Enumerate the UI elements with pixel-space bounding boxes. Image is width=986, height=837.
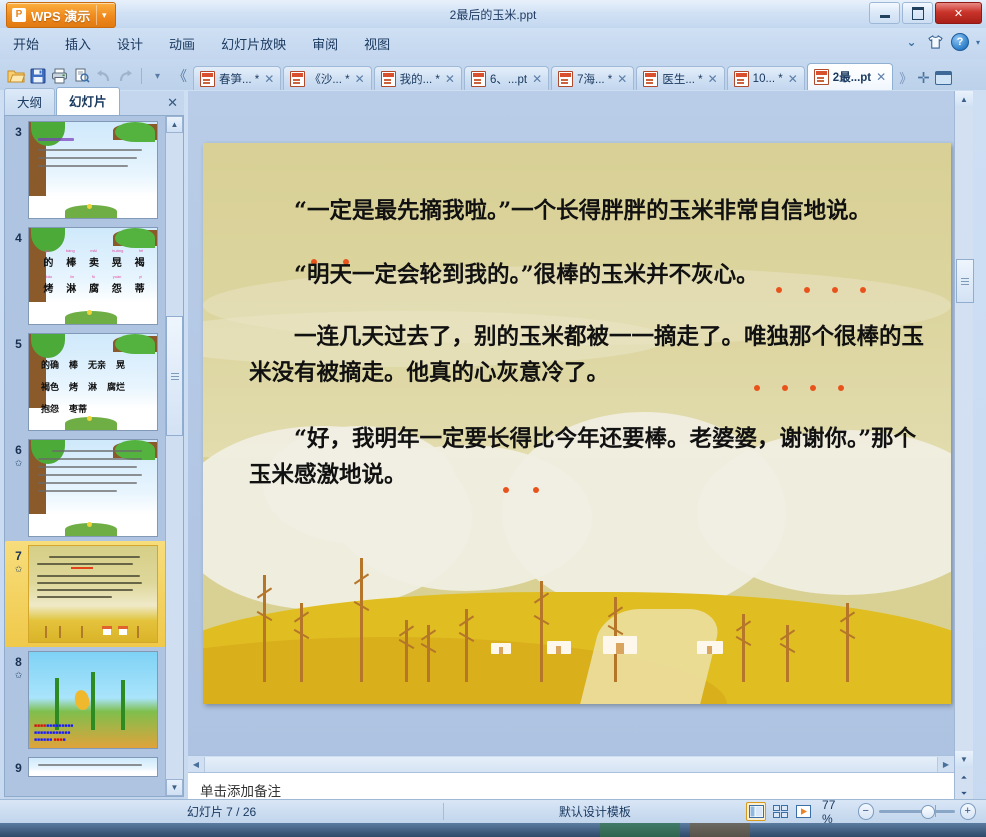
list-item[interactable]: 8 ✩ ■■■■■■■■■■■■■■■■■■■■■■■■■■■■■■■ ■■■■	[5, 647, 166, 753]
emphasis-dot	[754, 385, 760, 391]
doc-tab-label: 7海... *	[577, 71, 612, 87]
house-decor	[103, 629, 111, 635]
menu-item-review[interactable]: 审阅	[299, 30, 351, 57]
collapse-ribbon-icon[interactable]: 《	[170, 66, 190, 86]
doc-tab-label: 我的... *	[400, 71, 440, 87]
slide-thumbnail-current[interactable]	[28, 545, 158, 643]
zoom-in-button[interactable]: +	[960, 803, 977, 820]
menu-item-design[interactable]: 设计	[104, 30, 156, 57]
slide-number-label: 7	[15, 549, 22, 563]
thumbnail-list: 3	[5, 116, 166, 796]
thumbnail-caption: ■■■■■■■■■■■■■■■■■■■■■■■■■■■■■■■ ■■■■	[34, 723, 152, 744]
close-icon[interactable]: ✕	[531, 72, 543, 86]
list-item[interactable]: 3	[5, 117, 166, 223]
tree-decor	[405, 620, 408, 682]
animation-star-icon: ✩	[9, 458, 28, 469]
wps-presentation-window: 2最后的玉米.ppt P WPS 演示 ▾ ✕ 开始 插入 设计 动画 幻灯片放…	[0, 0, 986, 837]
emphasis-dot	[503, 487, 509, 493]
body-line	[37, 563, 133, 565]
thumbnail-text-lines	[38, 764, 151, 772]
thumbnail-text-lines	[38, 450, 151, 498]
horizontal-scroll-track[interactable]	[204, 757, 938, 772]
powerpoint-file-icon	[381, 71, 396, 87]
zoom-slider-knob[interactable]	[921, 805, 935, 819]
character-label: 烤	[43, 280, 53, 295]
scroll-right-icon[interactable]: ▶	[938, 757, 954, 772]
character-label: 怨	[112, 280, 122, 295]
slide-paragraph-3[interactable]: 一连几天过去了，别的玉米都被一一摘走了。唯独那个很棒的玉米没有被摘走。他真的心灰…	[249, 319, 929, 391]
pinyin-label: yuàn	[113, 274, 122, 279]
tree-decor	[137, 626, 139, 638]
print-icon[interactable]	[50, 67, 69, 86]
doc-tab-5[interactable]: 7海... * ✕	[551, 66, 634, 90]
house-decor	[697, 641, 723, 654]
tab-strip-tail: 》 ✛	[895, 68, 958, 90]
window-icon[interactable]	[935, 71, 952, 85]
app-name-label: WPS 演示	[31, 6, 90, 25]
slide-paragraph-2[interactable]: “明天一定会轮到我的。”很棒的玉米并不灰心。	[249, 257, 929, 293]
body-line	[38, 149, 142, 151]
redo-icon[interactable]	[116, 67, 135, 86]
list-item[interactable]: 6 ✩	[5, 435, 166, 541]
house-decor	[119, 629, 127, 635]
body-line	[38, 764, 142, 766]
quick-access-and-tabs-row: ▾ 《 春笋... * ✕ 《沙... * ✕ 我的... * ✕ 6、...p…	[0, 59, 986, 90]
toolbar-divider	[141, 68, 142, 84]
character-label: 褐	[135, 254, 145, 269]
word-row: 褐色 烤 淋 腐烂	[41, 380, 149, 393]
tree-decor	[81, 626, 83, 638]
menu-item-start[interactable]: 开始	[0, 30, 52, 57]
pinyin-label: bàng	[66, 248, 75, 253]
house-decor	[547, 641, 571, 654]
slide-number: 5	[9, 333, 28, 351]
view-and-zoom-controls: 77 % − +	[746, 798, 986, 826]
close-icon[interactable]: ✕	[787, 72, 799, 86]
list-item[interactable]: 9	[5, 753, 166, 781]
doc-tab-6[interactable]: 医生... * ✕	[636, 66, 724, 90]
body-line	[49, 556, 140, 558]
pinyin-label: fǔ	[92, 274, 95, 279]
word-label: 抱怨	[41, 402, 59, 415]
save-icon[interactable]	[28, 67, 47, 86]
body-line	[37, 575, 140, 577]
pinyin-label: guì	[45, 248, 51, 253]
pinyin-label: hè	[139, 248, 143, 253]
emphasis-dot	[533, 487, 539, 493]
maximize-icon	[912, 7, 924, 20]
house-decor	[603, 636, 637, 654]
navigator-tab-strip: 大纲 幻灯片 ✕	[4, 91, 184, 115]
taskbar-item	[690, 823, 750, 837]
list-item[interactable]: 5 的确 棒	[5, 329, 166, 435]
menubar-right-tools: ⌄ ? ▾	[903, 33, 980, 51]
doc-tab-7[interactable]: 10... * ✕	[727, 66, 805, 90]
close-icon[interactable]: ✕	[616, 72, 628, 86]
quick-access-toolbar: ▾ 《	[0, 63, 193, 89]
powerpoint-file-icon	[471, 71, 486, 87]
slide-number: 4	[9, 227, 28, 245]
slide-number-label: 6	[15, 443, 22, 457]
paragraph-text: “好，我明年一定要长得比今年还要棒。老婆婆，谢谢你。”那个玉米感激地说。	[249, 426, 916, 488]
customize-quick-access-icon[interactable]: ▾	[148, 67, 167, 86]
thumbnail-text-lines	[37, 556, 151, 603]
emphasis-dot	[838, 385, 844, 391]
menu-bar: 开始 插入 设计 动画 幻灯片放映 审阅 视图 ⌄ ? ▾	[0, 28, 986, 59]
new-tab-icon[interactable]: ✛	[917, 69, 930, 87]
door-decor	[707, 646, 713, 654]
animation-star-icon: ✩	[9, 670, 28, 681]
tree-decor	[465, 609, 468, 682]
tshirt-icon[interactable]	[927, 34, 944, 51]
tab-outline[interactable]: 大纲	[4, 88, 55, 115]
maximize-button[interactable]	[902, 2, 933, 24]
slide-number-label: 8	[15, 655, 22, 669]
pinyin-label: lín	[70, 274, 74, 279]
doc-tab-label: 10... *	[753, 73, 783, 85]
door-decor	[499, 647, 503, 654]
normal-view-icon[interactable]	[746, 802, 766, 821]
doc-tab-label: 医生... *	[662, 71, 702, 87]
current-slide-canvas[interactable]: “一定是最先摘我啦。”一个长得胖胖的玉米非常自信地说。 “明天一定会轮到我的。”…	[203, 143, 951, 704]
status-bar: 幻灯片 7 / 26 默认设计模板 77 % − +	[0, 799, 986, 823]
slide-paragraph-4[interactable]: “好，我明年一定要长得比今年还要棒。老婆婆，谢谢你。”那个玉米感激地说。	[249, 421, 929, 493]
emphasis-dot	[804, 287, 810, 293]
body-line	[38, 474, 142, 476]
menu-item-view[interactable]: 视图	[351, 30, 403, 57]
powerpoint-file-icon	[290, 71, 305, 87]
grip-lines	[961, 276, 969, 287]
thumbnail-scrollbar[interactable]: ▲ ▼	[165, 116, 183, 796]
tree-decor	[786, 625, 789, 681]
word-label: 无亲	[88, 358, 106, 371]
slide-thumbnail[interactable]: ■■■■■■■■■■■■■■■■■■■■■■■■■■■■■■■ ■■■■	[28, 651, 158, 749]
help-icon[interactable]: ?	[951, 33, 969, 51]
tab-slides[interactable]: 幻灯片	[56, 87, 120, 115]
emphasis-dot	[832, 287, 838, 293]
body-line	[37, 582, 142, 584]
caption-highlight: ■■■	[54, 737, 63, 743]
body-line	[38, 458, 142, 460]
emphasis-dot	[810, 385, 816, 391]
close-icon[interactable]: ✕	[263, 72, 275, 86]
slide-sorter-icon[interactable]	[771, 803, 789, 820]
close-icon[interactable]: ✕	[444, 72, 456, 86]
document-tab-strip: 春笋... * ✕ 《沙... * ✕ 我的... * ✕ 6、...pt ✕ …	[193, 59, 986, 90]
word-label: 烤	[69, 380, 78, 393]
caption-highlight: ■■■■	[34, 723, 46, 729]
close-icon[interactable]: ✕	[707, 72, 719, 86]
word-label: 枣蒂	[69, 402, 87, 415]
notes-placeholder: 单击添加备注	[200, 780, 281, 800]
scroll-up-icon[interactable]: ▲	[166, 116, 183, 133]
pinyin-label: huǎng	[112, 248, 123, 253]
tree-decor	[360, 558, 363, 681]
title-line	[38, 138, 74, 141]
character-label: 腐	[89, 280, 99, 295]
wps-logo-icon: P	[12, 8, 26, 22]
horizontal-scrollbar[interactable]: ◀ ▶	[188, 755, 954, 773]
thumbnail-list-container: 3	[4, 115, 184, 797]
pinyin-label: yì	[139, 274, 142, 279]
more-tabs-icon[interactable]: 》	[899, 68, 912, 87]
tree-decor	[846, 603, 849, 682]
emphasis-dots	[71, 567, 93, 569]
slide-thumbnail[interactable]	[28, 121, 158, 219]
previous-slide-icon[interactable]: ⏶	[956, 770, 972, 786]
list-item-selected[interactable]: 7 ✩	[5, 541, 166, 647]
character-label: 蒂	[135, 280, 145, 295]
slide-thumbnail[interactable]: guì bàng mǎi huǎng hè 的 棒 卖 晃	[28, 227, 158, 325]
body-line	[37, 596, 112, 598]
pinyin-grid: guì bàng mǎi huǎng hè 的 棒 卖 晃	[37, 248, 151, 296]
body-line	[37, 589, 133, 591]
paragraph-text: 一连几天过去了，别的玉米都被一一摘走了。唯独那个很棒的玉米没有被摘走。他真的心灰…	[249, 324, 924, 386]
tree-decor	[540, 581, 543, 682]
leaf-decor	[115, 334, 155, 354]
zoom-out-button[interactable]: −	[858, 803, 875, 820]
word-row: 的确 棒 无亲 晃	[41, 358, 149, 371]
scrollbar-thumb[interactable]	[166, 316, 183, 436]
minimize-button[interactable]	[869, 2, 900, 24]
doc-tab-label: 春笋... *	[219, 71, 259, 87]
design-template-label: 默认设计模板	[444, 803, 746, 820]
tree-decor	[59, 626, 61, 638]
landscape-decor	[29, 620, 157, 642]
doc-tab-1[interactable]: 春笋... * ✕	[193, 66, 281, 90]
slide-number: 6 ✩	[9, 439, 28, 469]
corn-ear-decor	[73, 689, 91, 711]
character-label: 的	[43, 254, 53, 269]
word-label: 腐烂	[107, 380, 125, 393]
desktop-taskbar-sliver	[0, 823, 986, 837]
scroll-up-icon[interactable]: ▲	[955, 91, 973, 108]
chevron-down-icon[interactable]: ⌄	[903, 34, 920, 51]
house-decor	[491, 643, 511, 654]
paragraph-text: “一定是最先摘我啦。”一个长得胖胖的玉米非常自信地说。	[294, 198, 871, 224]
slideshow-icon[interactable]	[795, 803, 813, 820]
character-label: 棒	[66, 254, 76, 269]
help-chevron-down-icon[interactable]: ▾	[976, 38, 980, 47]
pinyin-row: guì bàng mǎi huǎng hè	[37, 248, 151, 253]
powerpoint-file-icon	[643, 71, 658, 87]
word-label: 棒	[69, 358, 78, 371]
door-decor	[556, 646, 561, 654]
doc-tab-3[interactable]: 我的... * ✕	[374, 66, 462, 90]
powerpoint-file-icon	[200, 71, 215, 87]
doc-tab-label: 6、...pt	[490, 71, 527, 87]
word-row: 抱怨 枣蒂	[41, 402, 149, 415]
close-pane-icon[interactable]: ✕	[167, 95, 178, 111]
document-title: 2最后的玉米.ppt	[0, 0, 986, 28]
slide-text-body[interactable]: “一定是最先摘我啦。”一个长得胖胖的玉米非常自信地说。 “明天一定会轮到我的。”…	[249, 193, 929, 513]
open-icon[interactable]	[6, 67, 25, 86]
thumbnail-text-lines	[38, 138, 151, 173]
corn-stalk-decor	[91, 672, 95, 730]
paragraph-text: “明天一定会轮到我的。”很棒的玉米并不灰心。	[294, 262, 759, 288]
body-line	[38, 482, 137, 484]
powerpoint-file-icon	[734, 71, 749, 87]
slide-number: 9	[9, 757, 28, 775]
slide-thumbnail[interactable]: 的确 棒 无亲 晃 褐色 烤 淋 腐烂	[28, 333, 158, 431]
body-line	[38, 157, 137, 159]
word-label: 的确	[41, 358, 59, 371]
tree-decor	[263, 575, 266, 682]
word-label: 晃	[116, 358, 125, 371]
tree-decor	[45, 626, 47, 638]
close-icon[interactable]: ✕	[875, 70, 887, 84]
doc-tab-label: 《沙... *	[309, 71, 349, 87]
slide-number: 8 ✩	[9, 651, 28, 681]
slide-paragraph-1[interactable]: “一定是最先摘我啦。”一个长得胖胖的玉米非常自信地说。	[249, 193, 929, 229]
flower-decor	[87, 204, 92, 209]
zoom-slider-tick	[935, 805, 936, 817]
tree-decor	[742, 614, 745, 681]
scroll-left-icon[interactable]: ◀	[188, 757, 204, 772]
character-row: 的 棒 卖 晃 褐	[37, 254, 151, 269]
leaf-decor	[115, 228, 155, 248]
wps-app-button[interactable]: P WPS 演示 ▾	[6, 2, 116, 28]
menu-item-animation[interactable]: 动画	[156, 30, 208, 57]
grip-lines	[171, 371, 179, 382]
menu-item-insert[interactable]: 插入	[52, 30, 104, 57]
body-line	[52, 450, 142, 452]
pinyin-label: kǎo	[46, 274, 52, 279]
undo-icon[interactable]	[94, 67, 113, 86]
minimize-icon	[880, 15, 890, 18]
flower-decor	[87, 522, 92, 527]
powerpoint-file-icon	[558, 71, 573, 87]
body-line	[38, 466, 137, 468]
character-row: 烤 淋 腐 怨 蒂	[37, 280, 151, 295]
doc-tab-8-active[interactable]: 2最...pt ✕	[807, 63, 893, 90]
character-label: 晃	[112, 254, 122, 269]
slide-editor-area: “一定是最先摘我啦。”一个长得胖胖的玉米非常自信地说。 “明天一定会轮到我的。”…	[188, 91, 954, 804]
scroll-down-icon[interactable]: ▼	[166, 779, 183, 796]
zoom-slider[interactable]	[879, 810, 954, 813]
tree-decor	[427, 625, 430, 681]
list-item[interactable]: 4 guì bàng	[5, 223, 166, 329]
door-decor	[616, 643, 623, 654]
close-button[interactable]: ✕	[935, 2, 982, 24]
window-controls: ✕	[869, 2, 982, 24]
pinyin-label: mǎi	[90, 248, 96, 253]
emphasis-dot	[860, 287, 866, 293]
emphasis-dot	[776, 287, 782, 293]
flower-decor	[87, 310, 92, 315]
pinyin-row: kǎo lín fǔ yuàn yì	[37, 274, 151, 279]
vertical-scrollbar[interactable]: ▲ ⏶ ⏷ ▼	[954, 91, 973, 804]
zoom-level-label: 77 %	[822, 798, 848, 826]
print-preview-icon[interactable]	[72, 67, 91, 86]
tree-decor	[300, 603, 303, 682]
menu-item-slideshow[interactable]: 幻灯片放映	[208, 30, 299, 57]
emphasis-dot	[782, 385, 788, 391]
body-line	[38, 490, 117, 492]
slide-stage: “一定是最先摘我啦。”一个长得胖胖的玉米非常自信地说。 “明天一定会轮到我的。”…	[188, 91, 954, 755]
slide-number: 7 ✩	[9, 545, 28, 575]
scroll-down-icon[interactable]: ▼	[955, 751, 973, 768]
word-label: 淋	[88, 380, 97, 393]
word-grid: 的确 棒 无亲 晃 褐色 烤 淋 腐烂	[41, 358, 149, 424]
slide-counter: 幻灯片 7 / 26	[0, 803, 444, 820]
slide-navigator-pane: 大纲 幻灯片 ✕ 3	[4, 91, 184, 804]
chevron-down-icon[interactable]: ▾	[97, 5, 111, 25]
doc-tab-4[interactable]: 6、...pt ✕	[464, 66, 549, 90]
character-label: 淋	[66, 280, 76, 295]
close-icon[interactable]: ✕	[354, 72, 366, 86]
doc-tab-label: 2最...pt	[833, 69, 871, 85]
slide-thumbnail[interactable]	[28, 757, 158, 777]
slide-number: 3	[9, 121, 28, 139]
slide-thumbnail[interactable]	[28, 439, 158, 537]
powerpoint-file-icon	[814, 69, 829, 85]
animation-star-icon: ✩	[9, 564, 28, 575]
word-label: 褐色	[41, 380, 59, 393]
taskbar-item	[600, 823, 680, 837]
character-label: 卖	[89, 254, 99, 269]
body-line	[38, 165, 128, 167]
doc-tab-2[interactable]: 《沙... * ✕	[283, 66, 371, 90]
scrollbar-thumb[interactable]	[956, 259, 974, 303]
title-bar: 2最后的玉米.ppt P WPS 演示 ▾ ✕	[0, 0, 986, 29]
